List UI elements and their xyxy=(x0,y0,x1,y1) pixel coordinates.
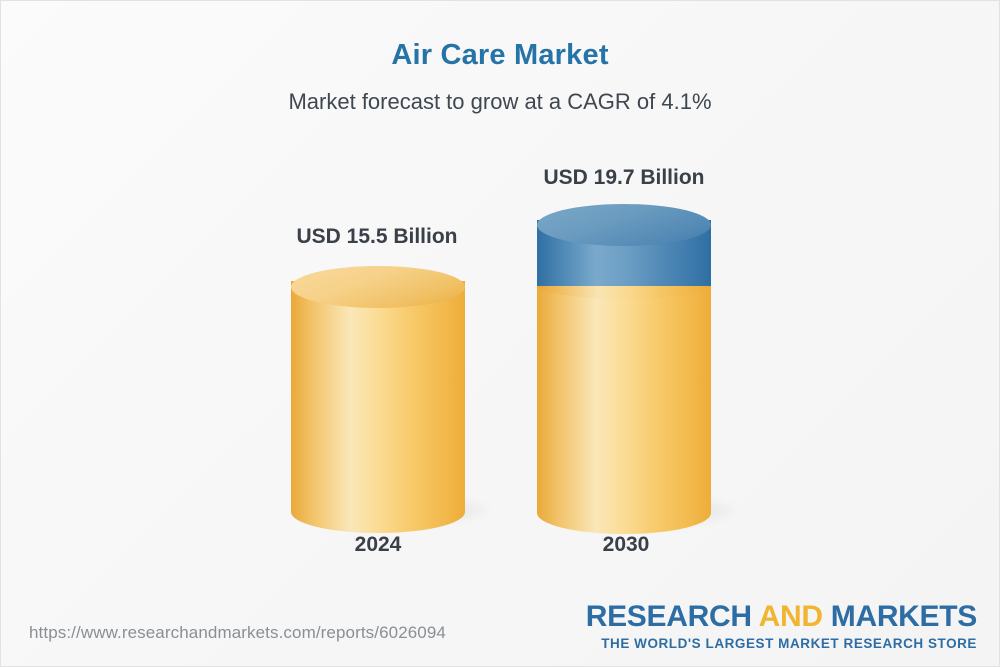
bar-body-2024 xyxy=(291,281,465,512)
category-label-2030: 2030 xyxy=(486,533,766,557)
logo-word-and: AND xyxy=(759,600,831,633)
chart-plot-area: USD 15.5 Billion 2024 USD 19.7 Billion xyxy=(1,1,1000,667)
logo-word-research: RESEARCH xyxy=(586,600,759,633)
research-and-markets-logo: RESEARCH AND MARKETS THE WORLD'S LARGEST… xyxy=(586,602,977,651)
bar-value-label-2030: USD 19.7 Billion xyxy=(484,166,764,190)
logo-wordmark: RESEARCH AND MARKETS xyxy=(586,602,977,633)
bar-segment-base-2030 xyxy=(537,285,711,513)
bar-top-cap-2030 xyxy=(537,204,711,246)
category-label-2024: 2024 xyxy=(238,533,518,557)
logo-word-markets: MARKETS xyxy=(831,600,977,633)
chart-canvas: Air Care Market Market forecast to grow … xyxy=(0,0,1000,667)
source-url[interactable]: https://www.researchandmarkets.com/repor… xyxy=(29,623,446,643)
bar-top-cap-2024 xyxy=(291,266,465,308)
bar-value-label-2024: USD 15.5 Billion xyxy=(237,225,517,249)
logo-tagline: THE WORLD'S LARGEST MARKET RESEARCH STOR… xyxy=(586,636,977,651)
